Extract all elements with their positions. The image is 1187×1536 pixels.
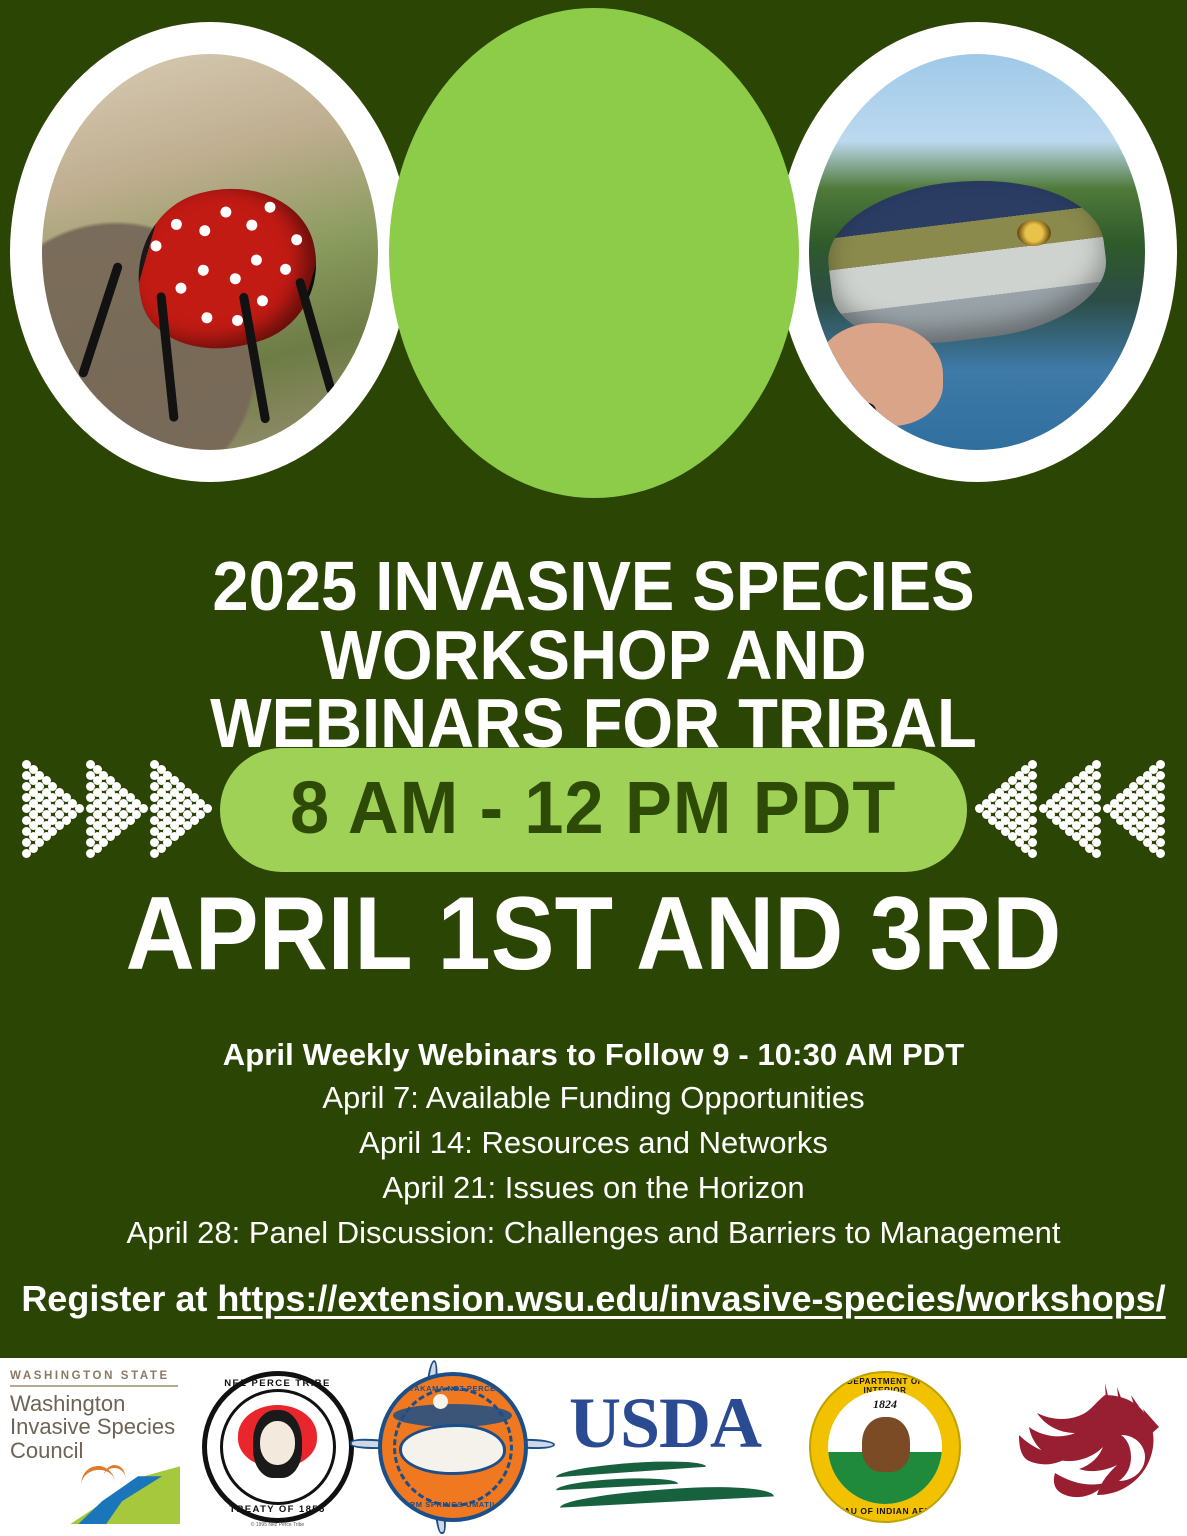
- webinar-schedule: April Weekly Webinars to Follow 9 - 10:3…: [0, 1034, 1187, 1256]
- logo-nez-perce-tribe: NEZ PERCE TRIBE TREATY OF 1855 © 1995 Ne…: [190, 1358, 365, 1536]
- critfc-seal: YAKAMA NEZ PERCE WARM SPRINGS UMATILLA: [378, 1372, 528, 1522]
- headline-line-1: 2025 INVASIVE SPECIES WORKSHOP AND: [212, 547, 974, 694]
- arrow-dot: [203, 804, 212, 813]
- event-date: APRIL 1ST AND 3RD: [47, 882, 1139, 986]
- logo-usda: USDA: [540, 1358, 790, 1536]
- webinar-session: April 7: Available Funding Opportunities: [0, 1076, 1187, 1121]
- chevron-left-dots: [1103, 754, 1165, 866]
- nez-perce-bottom-text: TREATY OF 1855: [207, 1504, 349, 1515]
- critfc-bottom-text: WARM SPRINGS UMATILLA: [382, 1500, 524, 1509]
- webinar-session: April 28: Panel Discussion: Challenges a…: [0, 1211, 1187, 1256]
- critfc-top-text: YAKAMA NEZ PERCE: [382, 1384, 524, 1393]
- nez-perce-caption: © 1995 Nez Perce Tribe: [190, 1522, 365, 1528]
- wsu-cougar-head-icon: [1009, 1377, 1159, 1517]
- registration-line: Register at https://extension.wsu.edu/in…: [0, 1278, 1187, 1320]
- register-prefix: Register at: [21, 1278, 217, 1319]
- sponsor-logo-bar: WASHINGTON STATE Washington Invasive Spe…: [0, 1358, 1187, 1536]
- wisc-river-hill-illustration: [10, 1464, 186, 1524]
- wisc-eyebrow: WASHINGTON STATE: [10, 1370, 186, 1382]
- time-banner-pill: 8 AM - 12 PM PDT: [220, 748, 967, 872]
- time-banner-row: 8 AM - 12 PM PDT: [0, 748, 1187, 872]
- registration-url-link[interactable]: https://extension.wsu.edu/invasive-speci…: [217, 1278, 1165, 1319]
- bia-seal: U.S. DEPARTMENT OF THE INTERIOR 1824 BUR…: [809, 1371, 961, 1523]
- hero-image-walleye: [809, 54, 1145, 450]
- webinar-lead: April Weekly Webinars to Follow 9 - 10:3…: [0, 1034, 1187, 1076]
- left-chevron-arrows-icon: [975, 754, 1165, 866]
- hero-image-spotted-lanternfly: [42, 54, 378, 450]
- wisc-name-line-1: Washington: [10, 1392, 186, 1416]
- lanternfly-leg: [77, 261, 123, 378]
- salmon-illustration: [399, 1424, 507, 1475]
- eagle-icon: [862, 1417, 910, 1472]
- wisc-name-line-2: Invasive Species: [10, 1415, 186, 1439]
- nez-perce-portrait: [220, 1389, 336, 1505]
- lanternfly-body: [120, 169, 334, 367]
- moon-icon: [433, 1394, 448, 1409]
- wisc-name-line-3: Council: [10, 1439, 186, 1463]
- portrait-face: [260, 1421, 295, 1465]
- field-line: [556, 1458, 706, 1477]
- usda-wordmark: USDA: [569, 1389, 761, 1457]
- bia-bottom-text: BUREAU OF INDIAN AFFAIRS: [811, 1506, 959, 1516]
- webinar-session: April 21: Issues on the Horizon: [0, 1166, 1187, 1211]
- hero-circle-flowering-rush-ring: [389, 8, 799, 498]
- arrow-dot: [139, 804, 148, 813]
- lanternfly-leg: [294, 277, 336, 395]
- bird-icon: [103, 1464, 126, 1479]
- wisc-divider: [10, 1385, 178, 1387]
- nez-perce-top-text: NEZ PERCE TRIBE: [207, 1378, 349, 1389]
- chevron-left-dots: [975, 754, 1037, 866]
- nez-perce-seal: NEZ PERCE TRIBE TREATY OF 1855: [202, 1371, 354, 1523]
- logo-washington-state-university: [980, 1358, 1187, 1536]
- right-chevron-arrows-icon: [22, 754, 212, 866]
- chevron-right-dots: [22, 754, 84, 866]
- chevron-right-dots: [150, 754, 212, 866]
- bia-year: 1824: [811, 1397, 959, 1412]
- logo-critfc-tribes: YAKAMA NEZ PERCE WARM SPRINGS UMATILLA: [365, 1358, 540, 1536]
- wrist-watch: [822, 403, 876, 435]
- field-line: [556, 1476, 678, 1490]
- logo-bureau-of-indian-affairs: U.S. DEPARTMENT OF THE INTERIOR 1824 BUR…: [790, 1358, 980, 1536]
- time-banner-label: 8 AM - 12 PM PDT: [290, 771, 896, 849]
- logo-washington-invasive-species-council: WASHINGTON STATE Washington Invasive Spe…: [0, 1358, 190, 1536]
- usda-field-lines: [556, 1459, 774, 1505]
- arrow-dot: [75, 804, 84, 813]
- hero-image-row: [0, 0, 1187, 510]
- poster-root: 2025 INVASIVE SPECIES WORKSHOP AND WEBIN…: [0, 0, 1187, 1536]
- chevron-left-dots: [1039, 754, 1101, 866]
- webinar-session: April 14: Resources and Networks: [0, 1121, 1187, 1166]
- chevron-right-dots: [86, 754, 148, 866]
